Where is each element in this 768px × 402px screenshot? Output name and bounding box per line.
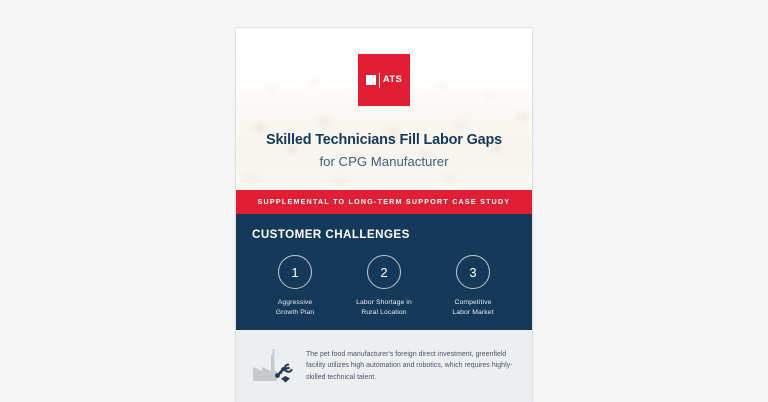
challenge-item-1: 1 Aggressive Growth Plan	[258, 255, 332, 317]
challenge-label-line-2: Rural Location	[361, 309, 406, 316]
factory-robot-arm-icon	[250, 347, 294, 385]
challenge-number: 2	[380, 266, 387, 279]
challenge-label-line-1: Labor Shortage in	[356, 299, 412, 306]
supplemental-banner-text: SUPPLEMENTAL TO LONG-TERM SUPPORT CASE S…	[258, 198, 511, 206]
challenge-label: Aggressive Growth Plan	[276, 298, 315, 317]
logo-wordmark: ATS	[383, 75, 402, 85]
challenge-label-line-1: Aggressive	[278, 299, 313, 306]
case-study-document-card[interactable]: ATS Skilled Technicians Fill Labor Gaps …	[236, 28, 532, 402]
page-stage: ATS Skilled Technicians Fill Labor Gaps …	[0, 0, 768, 402]
summary-section: The pet food manufacturer's foreign dire…	[236, 330, 532, 402]
page-subtitle: for CPG Manufacturer	[252, 153, 516, 170]
challenge-label: Labor Shortage in Rural Location	[356, 298, 412, 317]
challenge-number: 3	[469, 266, 476, 279]
logo-square-icon	[366, 75, 376, 85]
challenge-label-line-1: Competitive	[455, 299, 492, 306]
challenge-label-line-2: Growth Plan	[276, 309, 315, 316]
document-hero: ATS Skilled Technicians Fill Labor Gaps …	[236, 28, 532, 190]
challenge-label: Competitive Labor Market	[452, 298, 493, 317]
challenge-number-circle: 3	[456, 255, 490, 289]
challenge-list: 1 Aggressive Growth Plan 2 Labor Shortag…	[252, 255, 516, 317]
hero-title-group: Skilled Technicians Fill Labor Gaps for …	[236, 132, 532, 170]
challenge-number-circle: 2	[367, 255, 401, 289]
customer-challenges-section: CUSTOMER CHALLENGES 1 Aggressive Growth …	[236, 214, 532, 330]
challenge-label-line-2: Labor Market	[452, 309, 493, 316]
logo-divider-icon	[379, 73, 380, 88]
summary-text: The pet food manufacturer's foreign dire…	[306, 349, 514, 383]
challenge-number: 1	[291, 266, 298, 279]
supplemental-banner: SUPPLEMENTAL TO LONG-TERM SUPPORT CASE S…	[236, 190, 532, 214]
page-title: Skilled Technicians Fill Labor Gaps	[252, 132, 516, 150]
ats-logo[interactable]: ATS	[358, 54, 410, 106]
section-heading: CUSTOMER CHALLENGES	[252, 228, 516, 241]
challenge-number-circle: 1	[278, 255, 312, 289]
challenge-item-2: 2 Labor Shortage in Rural Location	[347, 255, 421, 317]
challenge-item-3: 3 Competitive Labor Market	[436, 255, 510, 317]
